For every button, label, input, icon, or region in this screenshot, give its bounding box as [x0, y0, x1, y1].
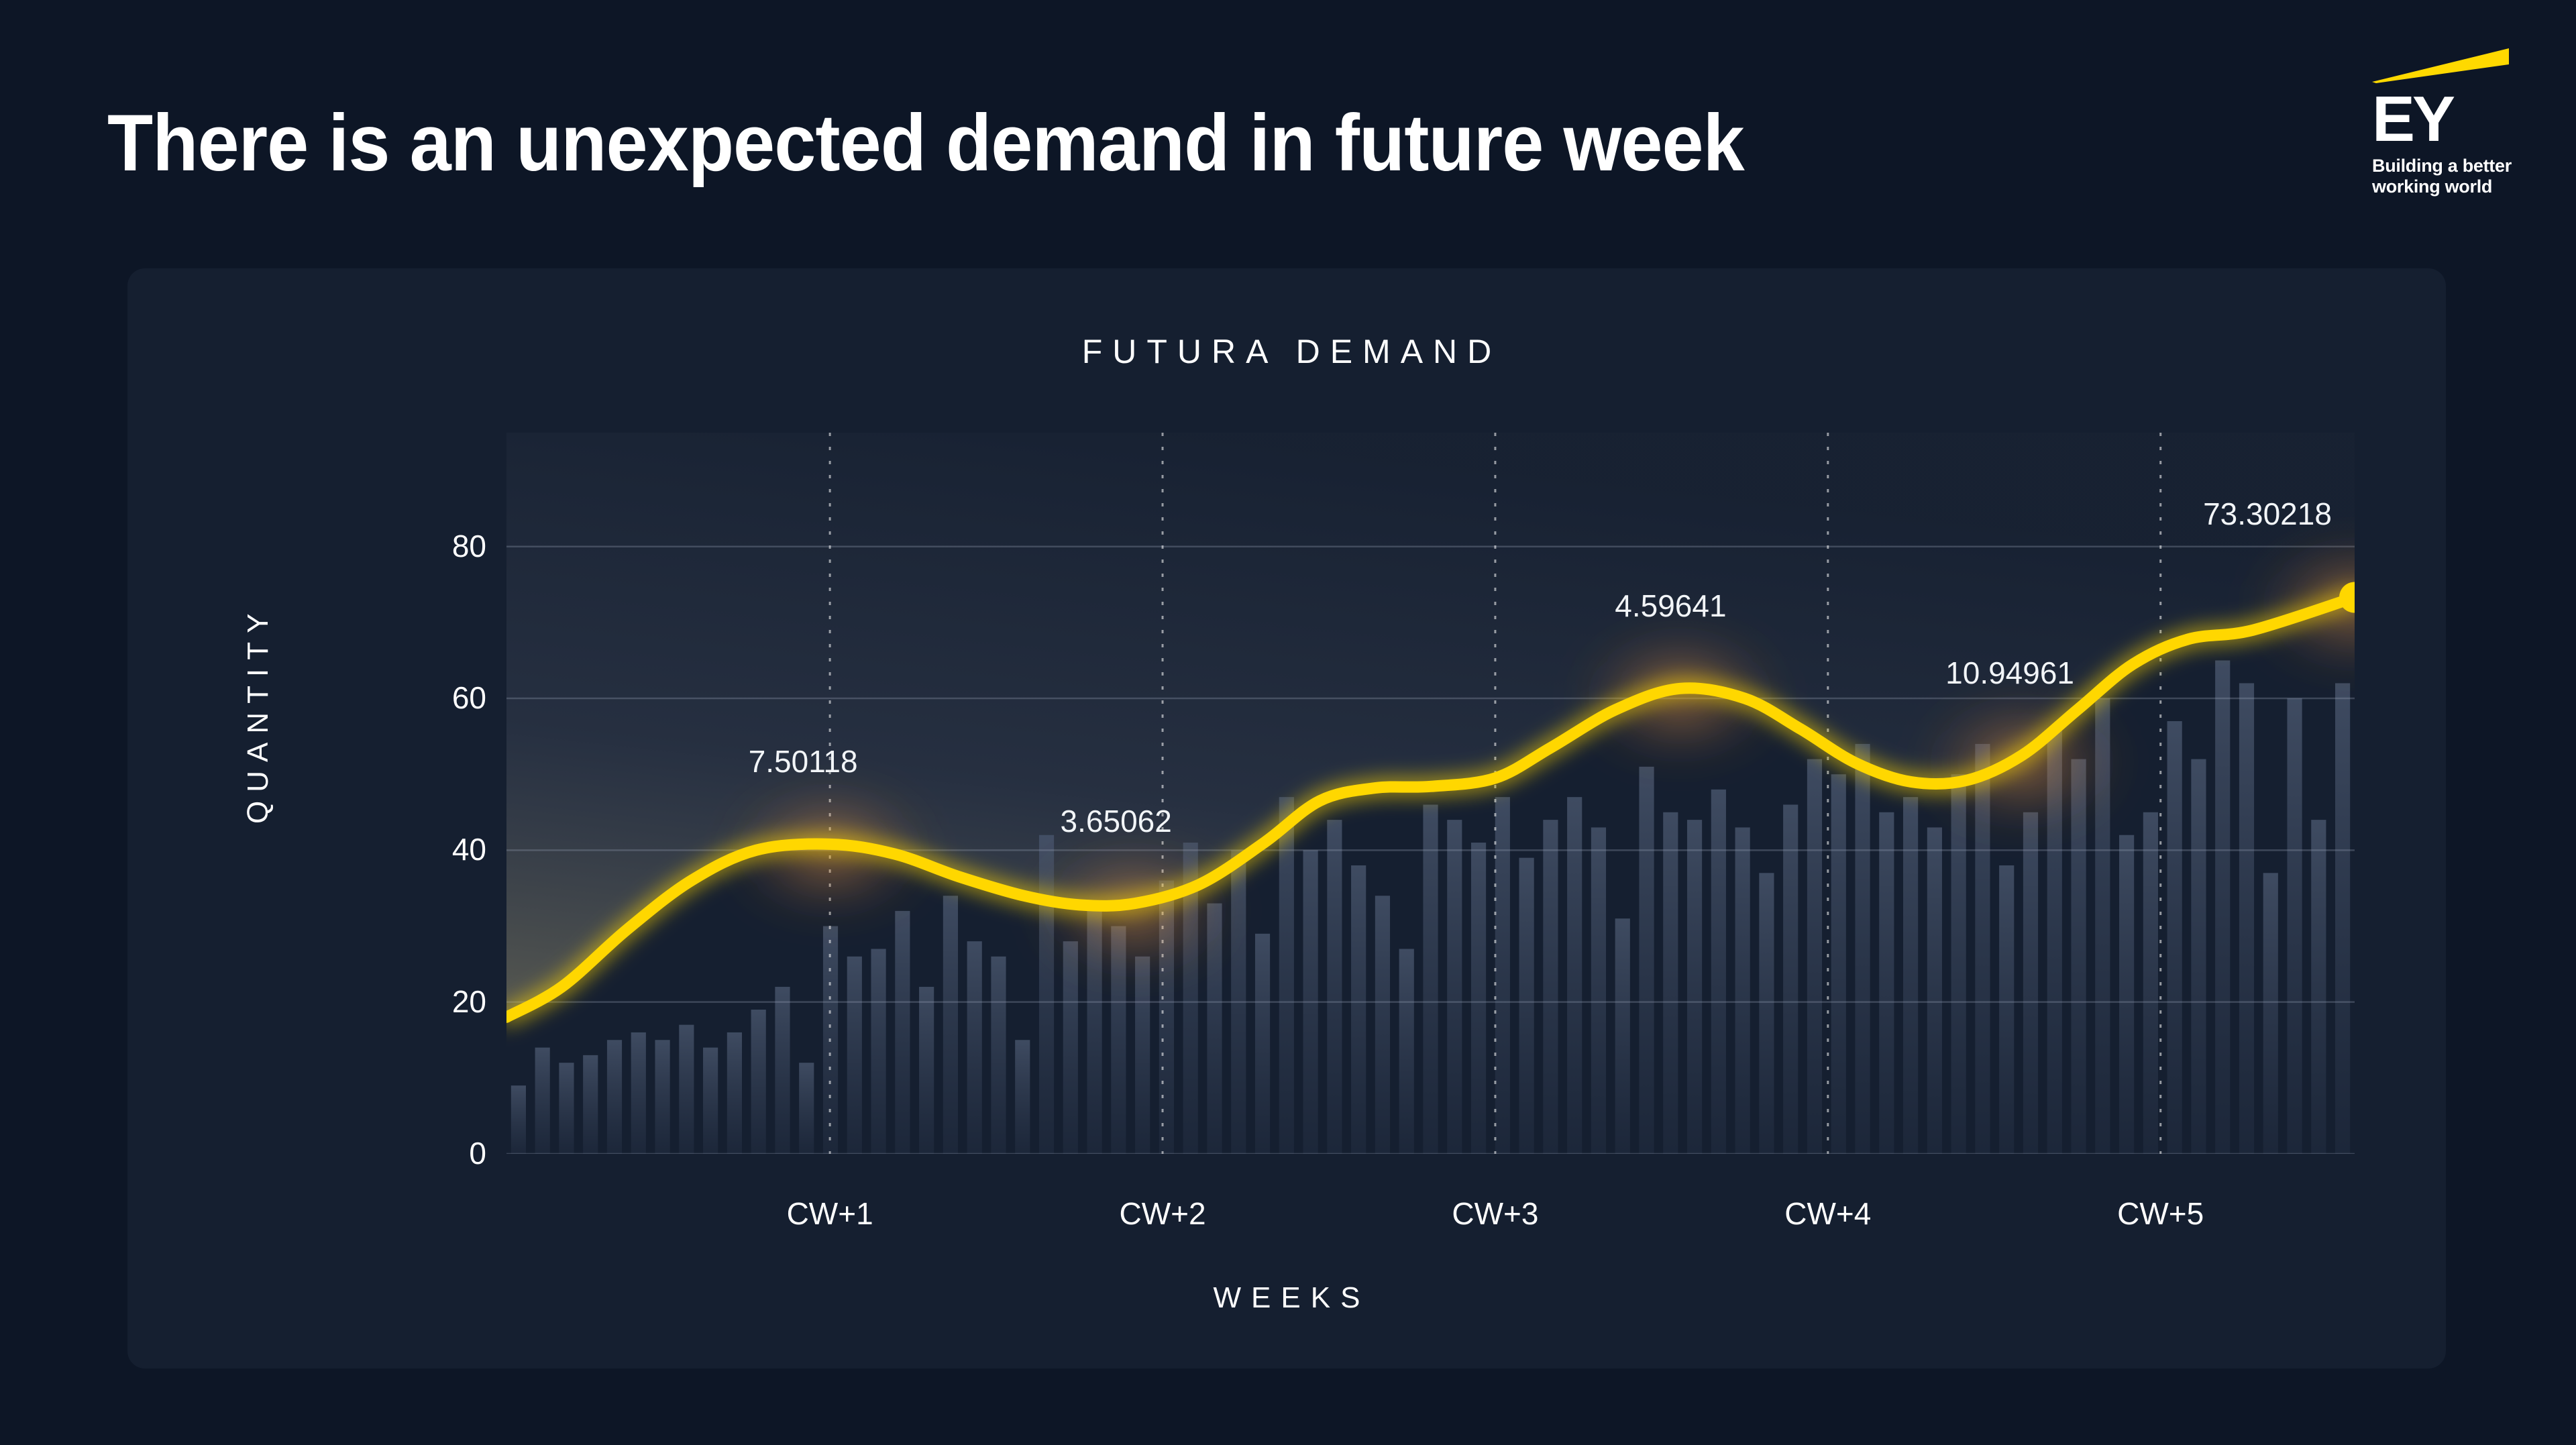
data-point-label: 7.50118 [662, 743, 944, 780]
slide-root: There is an unexpected demand in future … [0, 0, 2576, 1445]
background-bar [1927, 827, 1942, 1154]
background-bar [1519, 858, 1534, 1154]
background-bar [1783, 804, 1798, 1154]
background-bar [631, 1032, 646, 1154]
background-bar [1543, 820, 1558, 1154]
data-point-label: 4.59641 [1529, 588, 1811, 624]
background-bar [1951, 774, 1966, 1154]
background-bar [943, 896, 958, 1154]
background-bar [727, 1032, 742, 1154]
ey-beam-icon [2372, 48, 2513, 83]
background-bar [1687, 820, 1702, 1154]
background-bar [2287, 698, 2302, 1154]
background-bar [1351, 865, 1366, 1154]
background-bar [1807, 759, 1822, 1154]
chart-title: FUTURA DEMAND [127, 332, 2446, 371]
background-bar [1855, 744, 1870, 1154]
background-bar [847, 957, 862, 1154]
background-bar [2167, 721, 2182, 1154]
background-bar [775, 987, 790, 1154]
y-axis-tick-label: 40 [406, 831, 486, 867]
background-bar [2335, 683, 2350, 1154]
x-axis-tick-label: CW+3 [1395, 1195, 1596, 1232]
background-bar [1831, 774, 1846, 1154]
chart-card: FUTURA DEMAND QUANTITY WEEKS 020406080 C… [127, 268, 2446, 1369]
background-bar [751, 1010, 766, 1154]
background-bar [2215, 660, 2230, 1154]
background-bar [1015, 1040, 1030, 1154]
background-bar [703, 1048, 718, 1154]
background-bar [871, 949, 885, 1154]
background-bar [1255, 934, 1270, 1154]
background-bar [1447, 820, 1462, 1154]
background-bar [1135, 957, 1150, 1154]
background-bar [679, 1025, 694, 1154]
x-axis-tick-label: CW+4 [1727, 1195, 1929, 1232]
background-bar [2071, 759, 2086, 1154]
y-axis-tick-label: 80 [406, 528, 486, 564]
plot-area [506, 433, 2355, 1154]
background-bar [1375, 896, 1390, 1154]
background-bar [655, 1040, 669, 1154]
x-axis-title: WEEKS [127, 1281, 2446, 1315]
x-axis-tick-label: CW+1 [729, 1195, 930, 1232]
background-bar [919, 987, 934, 1154]
background-bar [1615, 918, 1630, 1154]
background-bar [1591, 827, 1606, 1154]
background-bar [1639, 767, 1654, 1154]
background-bar [895, 911, 910, 1154]
background-bar [559, 1063, 574, 1154]
background-bar [991, 957, 1006, 1154]
data-point-label: 73.30218 [2127, 496, 2408, 532]
y-axis-tick-label: 0 [406, 1135, 486, 1171]
data-point-label: 10.94961 [1869, 655, 2151, 691]
background-bar [1759, 873, 1774, 1154]
background-bar [2119, 835, 2134, 1154]
x-axis-tick-label: CW+5 [2060, 1195, 2261, 1232]
x-axis-tick-label: CW+2 [1062, 1195, 1263, 1232]
data-point-label: 3.65062 [975, 803, 1257, 839]
background-bar [1999, 865, 2014, 1154]
background-bar [511, 1085, 526, 1154]
page-title: There is an unexpected demand in future … [107, 101, 1744, 185]
background-bar [607, 1040, 622, 1154]
background-bar [583, 1055, 598, 1154]
y-axis-tick-label: 60 [406, 680, 486, 716]
chart-canvas [506, 433, 2355, 1154]
background-bar [1711, 790, 1726, 1154]
background-bar [535, 1048, 550, 1154]
background-bar [1423, 804, 1438, 1154]
background-bar [799, 1063, 814, 1154]
background-bar [1879, 812, 1894, 1154]
y-axis-tick-label: 20 [406, 983, 486, 1020]
background-bar [2191, 759, 2206, 1154]
background-bar [1471, 843, 1486, 1154]
ey-tagline: Building a better working world [2372, 156, 2514, 197]
ey-wordmark: EY [2372, 90, 2514, 149]
background-bar [1063, 941, 1078, 1154]
background-bar [1735, 827, 1750, 1154]
ey-logo: EY Building a better working world [2360, 48, 2514, 197]
background-bar [2023, 812, 2038, 1154]
background-bar [1663, 812, 1678, 1154]
background-bar [2239, 683, 2254, 1154]
background-bar [1399, 949, 1414, 1154]
background-bar [1327, 820, 1342, 1154]
background-bar [2311, 820, 2326, 1154]
y-axis-title: QUANTITY [241, 605, 275, 824]
background-bar [967, 941, 982, 1154]
background-bar [2143, 812, 2158, 1154]
background-bar [2263, 873, 2278, 1154]
